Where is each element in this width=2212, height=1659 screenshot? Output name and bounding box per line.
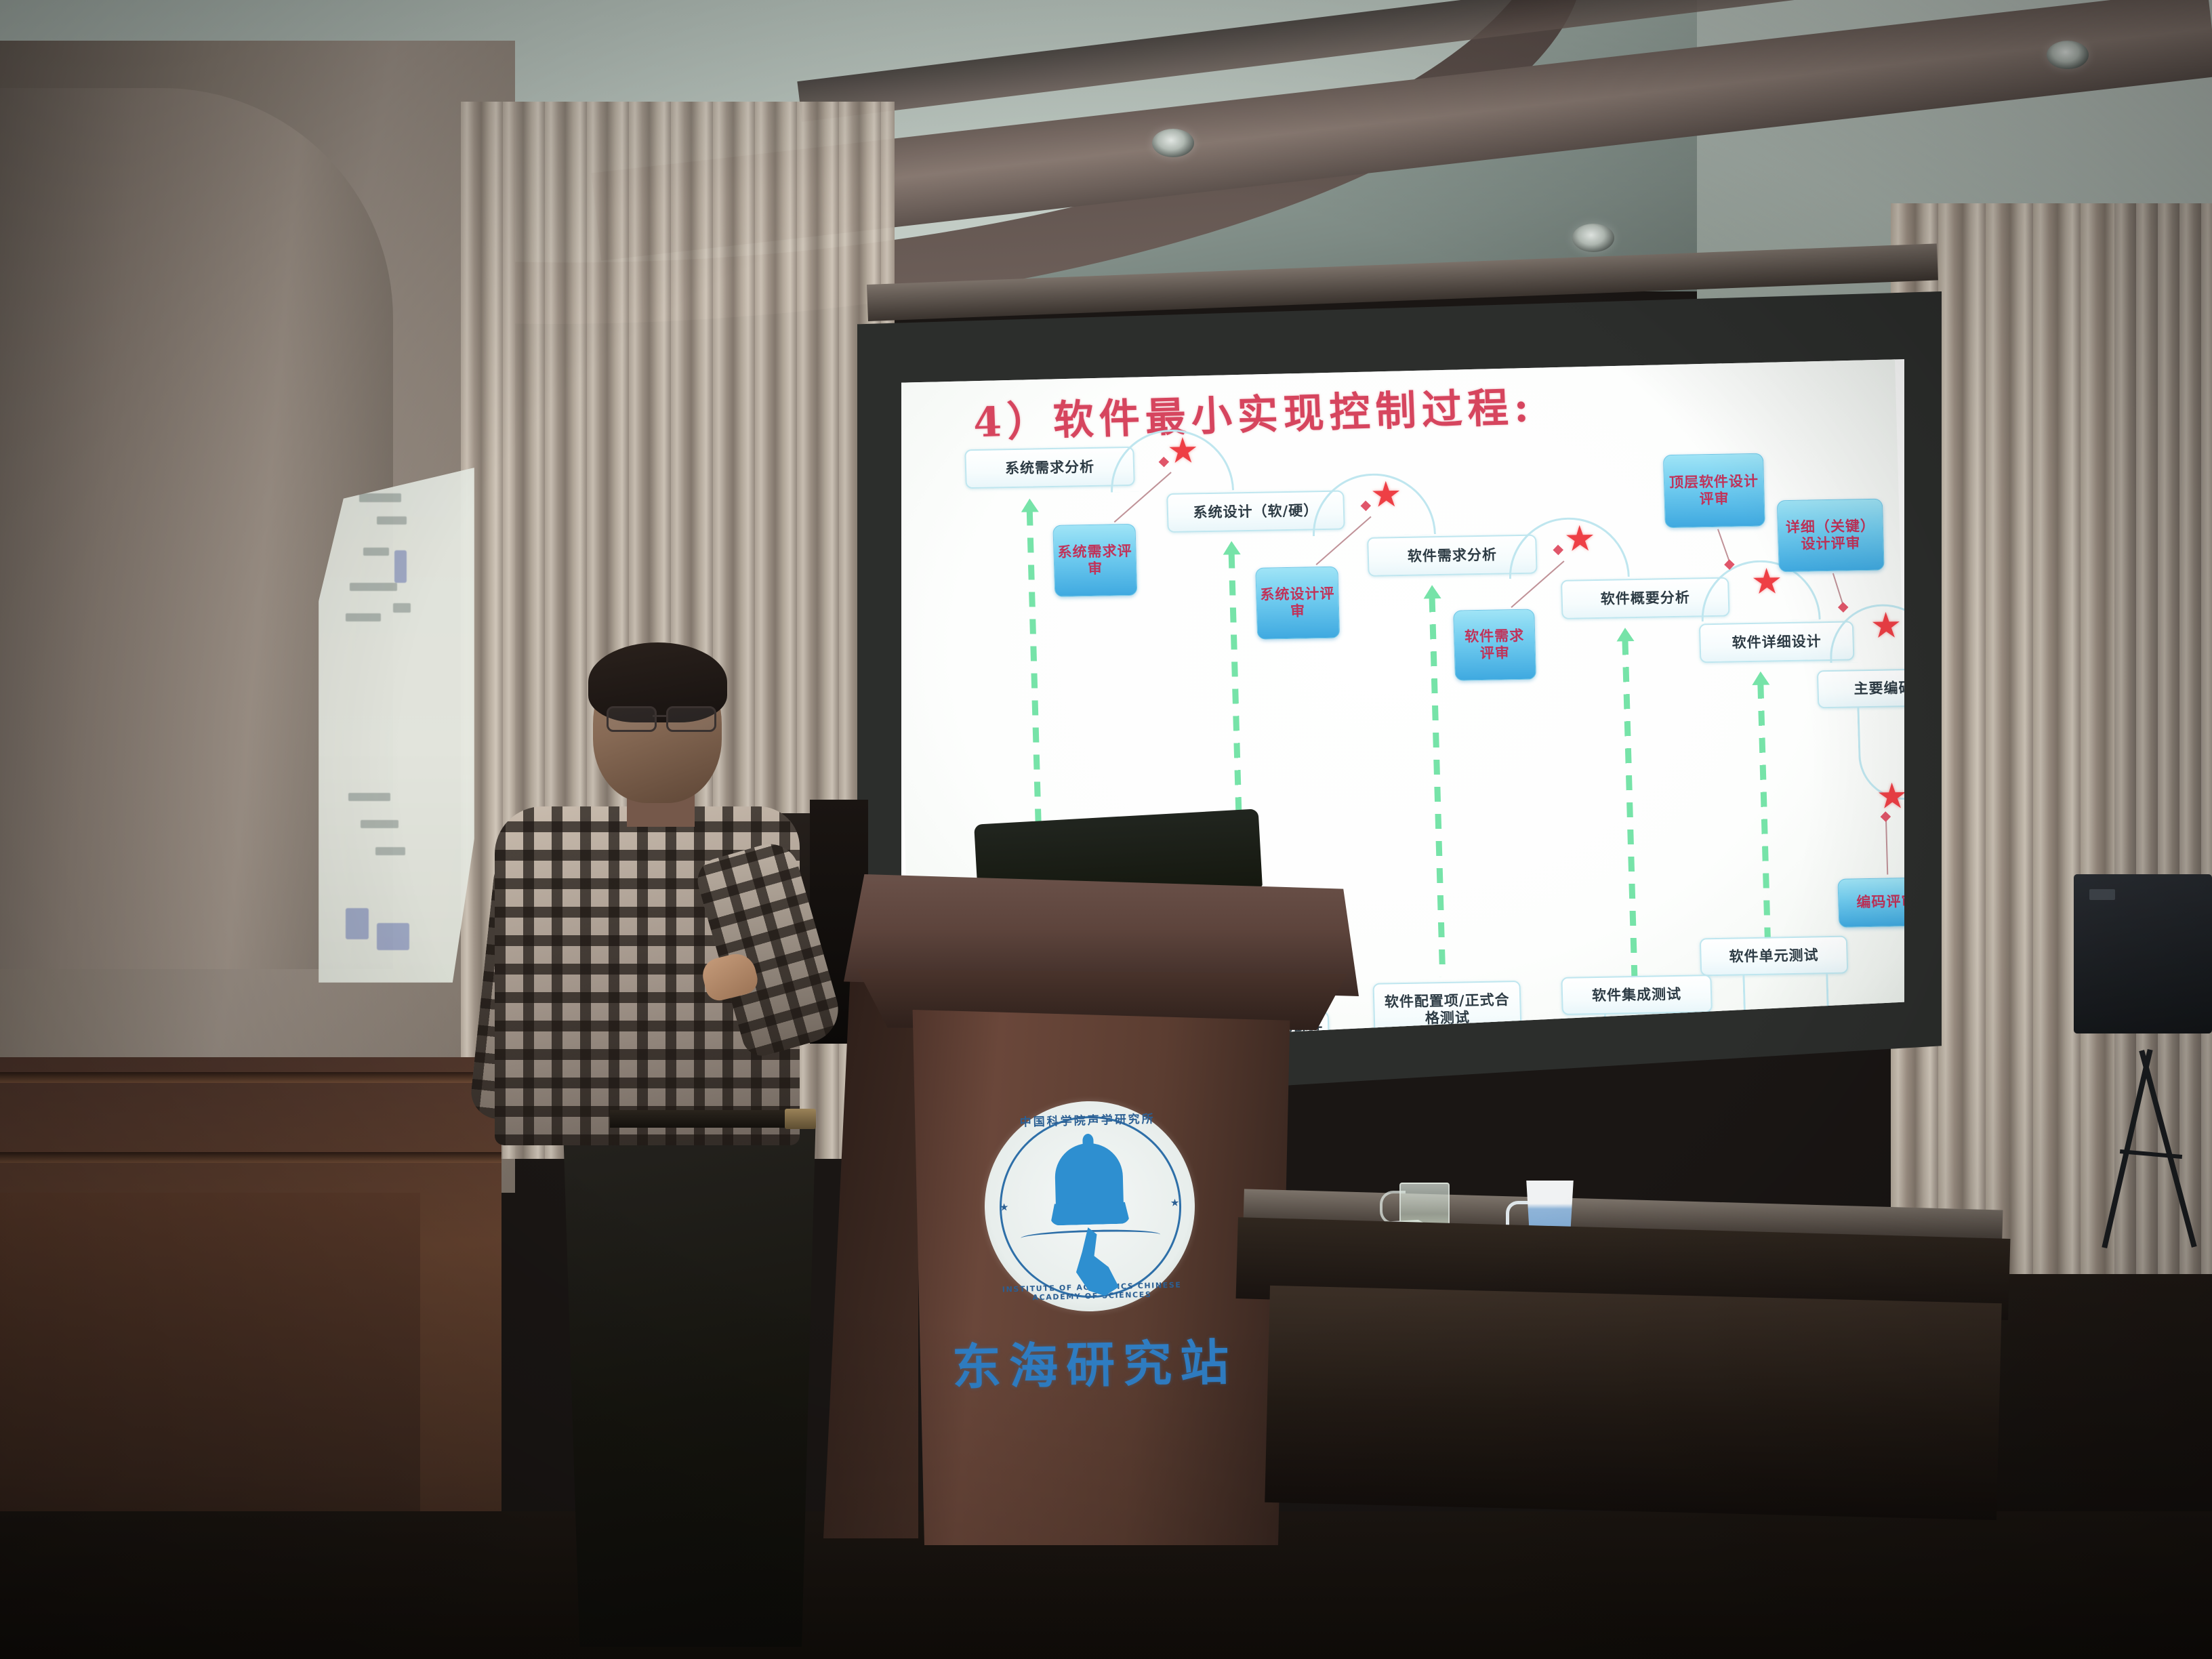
review-leader-tip-icon (1838, 602, 1849, 613)
wainscot-rail (0, 1072, 501, 1083)
presenter-belt-buckle (785, 1109, 816, 1129)
review-node-coding-review: 编码评审 (1837, 877, 1904, 927)
presenter-belt (610, 1110, 813, 1128)
bell-skirt-icon (1050, 1202, 1130, 1225)
milestone-star-icon: ★ (1368, 477, 1404, 513)
presenter-glasses-icon (607, 706, 725, 729)
review-node-system-requirements-review: 系统需求评审 (1052, 524, 1137, 597)
milestone-star-icon: ★ (1562, 521, 1598, 557)
milestone-star-icon: ★ (1165, 433, 1201, 469)
presenter-legs (546, 1111, 830, 1647)
glasses-bridge (653, 715, 668, 717)
counter-front (1265, 1286, 2001, 1520)
flow-arrow-head-icon (1423, 585, 1441, 598)
review-leader-line (1885, 817, 1888, 875)
venue-caption: 东海研究站 (935, 1322, 1254, 1399)
wainscot-rail (0, 1152, 501, 1163)
emblem-star-icon-left: ★ (1000, 1201, 1009, 1213)
flow-arrow-head-icon (1752, 672, 1770, 685)
flow-arrow-head-icon (1616, 628, 1635, 641)
milestone-star-icon: ★ (1874, 779, 1904, 815)
downlight-icon (1572, 224, 1614, 252)
review-node-software-requirements-review: 软件需求评审 (1453, 609, 1536, 681)
flow-arrow-line (1622, 640, 1637, 979)
flow-arrow-line (1757, 684, 1771, 955)
conference-room-photo: 4）软件最小实现控制过程: 系统需求分析 ★ 系统需求评审 系统设计（软/硬） … (0, 0, 2212, 1659)
flow-arrow-head-icon (1223, 541, 1241, 554)
slide-title: 4）软件最小实现控制过程: (972, 374, 1535, 449)
review-node-detailed-critical-design-review: 详细（关键）设计评审 (1777, 499, 1885, 573)
wall-spill-projection (319, 468, 474, 983)
review-node-top-level-software-design-review: 顶层软件设计评审 (1663, 453, 1765, 529)
milestone-star-icon: ★ (1868, 608, 1904, 644)
glasses-lens-right (666, 706, 716, 732)
process-node-system-requirements-analysis: 系统需求分析 (964, 447, 1135, 489)
monitor-brand-label (2089, 889, 2115, 900)
process-node-main-coding: 主要编码 (1817, 668, 1904, 708)
review-node-system-design-review: 系统设计评审 (1255, 567, 1340, 640)
emblem-star-icon-right: ★ (1170, 1197, 1180, 1209)
glasses-lens-left (607, 706, 657, 732)
milestone-star-icon: ★ (1748, 564, 1784, 600)
downlight-icon (2047, 41, 2089, 69)
flow-arrow-head-icon (1021, 498, 1039, 512)
process-node-software-unit-test: 软件单元测试 (1700, 936, 1849, 977)
flow-arrow-line (1429, 597, 1446, 977)
downlight-icon (1152, 129, 1194, 157)
process-node-software-integration-test: 软件集成测试 (1561, 975, 1713, 1015)
